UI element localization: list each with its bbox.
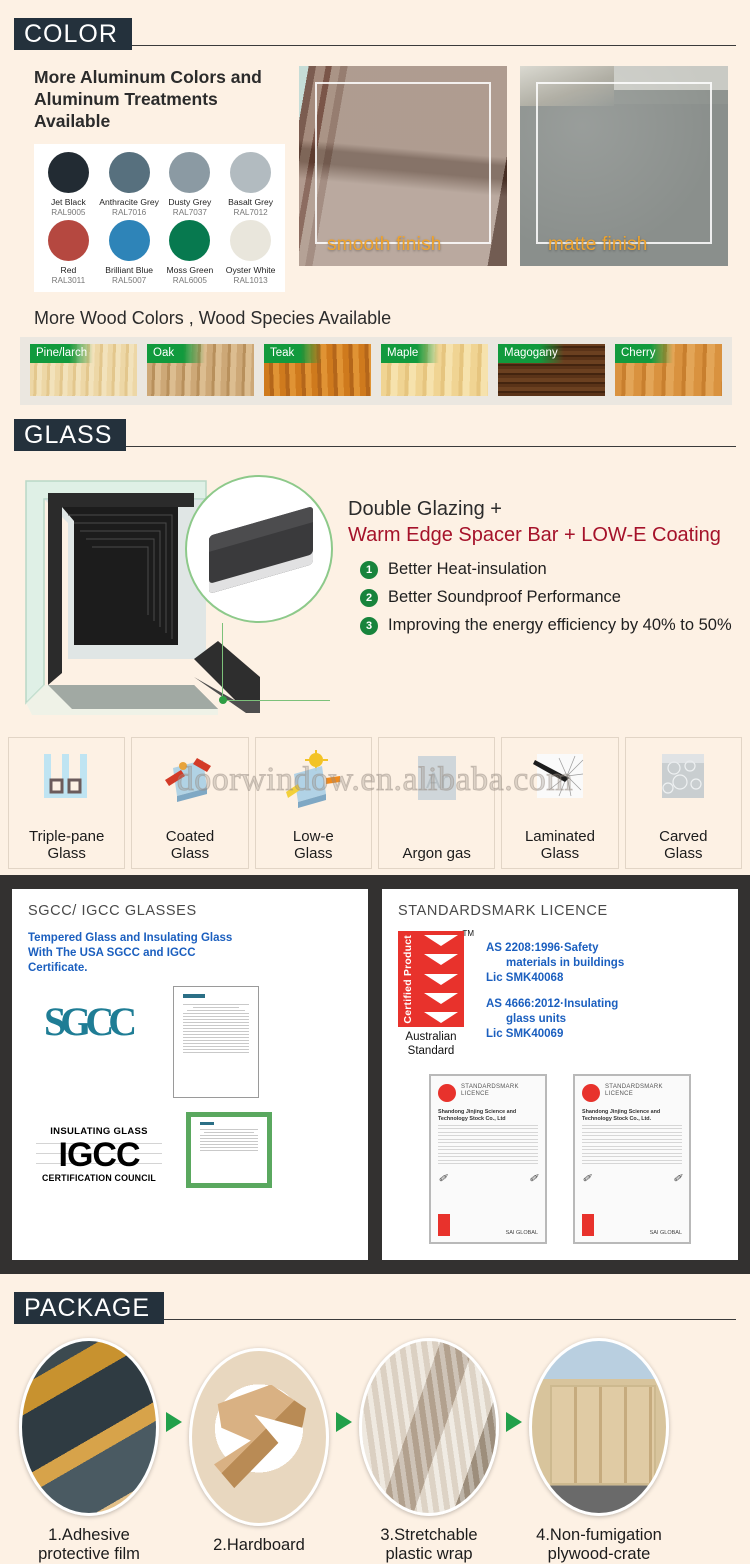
swatch-name: Anthracite Grey <box>99 197 160 207</box>
australian-standard-caption: Australian Standard <box>398 1030 464 1058</box>
smooth-finish-caption: smooth finish <box>327 234 442 256</box>
glass-type-label: Carved Glass <box>659 828 707 862</box>
color-swatch: Anthracite Grey RAL7016 <box>99 152 160 218</box>
section-title-glass: GLASS <box>14 419 126 451</box>
wood-label: Teak <box>264 344 322 363</box>
package-step-caption: 3.Stretchable plastic wrap <box>354 1526 504 1564</box>
glass-type-card-carved[interactable]: Carved Glass <box>625 737 742 869</box>
sgcc-heading: SGCC/ IGCC GLASSES <box>28 903 352 919</box>
wood-label: Magogany <box>498 344 564 363</box>
glass-type-card-low-e[interactable]: Low-e Glass <box>255 737 372 869</box>
swatch-dot <box>48 220 89 261</box>
glass-type-label: Laminated Glass <box>525 828 595 862</box>
glass-section: GLASS <box>0 405 750 869</box>
certificate-footer: SAI GLOBAL <box>506 1230 538 1236</box>
package-step-caption: 4.Non-fumigation plywood-crate <box>524 1526 674 1564</box>
swatch-dot <box>169 220 210 261</box>
standardsmark-certificate-thumbnail: STANDARDSMARK LICENCE Shandong Jinjing S… <box>573 1074 691 1244</box>
certificate-footer: SAI GLOBAL <box>650 1230 682 1236</box>
package-step-3: 3.Stretchable plastic wrap <box>354 1338 504 1564</box>
certificates-row: SGCC/ IGCC GLASSES Tempered Glass and In… <box>12 889 738 1260</box>
standard-entry-line3: Lic SMK40068 <box>486 971 624 986</box>
package-step-1: 1.Adhesive protective film <box>14 1338 164 1564</box>
color-section: COLOR More Aluminum Colors and Aluminum … <box>0 0 750 405</box>
package-section-header: PACKAGE <box>14 1292 736 1326</box>
wood-label: Maple <box>381 344 439 363</box>
svg-text:Ar: Ar <box>426 768 448 793</box>
standard-entry-line1: AS 4666:2012·Insulating <box>486 997 624 1012</box>
color-swatch: Brilliant Blue RAL5007 <box>99 220 160 286</box>
sgcc-certificate-thumbnail <box>173 986 259 1098</box>
certified-product-text: Certified Product <box>402 935 414 1024</box>
swatch-dot <box>230 152 271 193</box>
laminated-glass-icon <box>529 750 591 810</box>
sai-globe-icon <box>582 1084 600 1102</box>
standard-entry-line2: materials in buildings <box>506 956 624 971</box>
package-section: PACKAGE 1.Adhesive protective film 2.Har… <box>0 1274 750 1564</box>
swatch-dot <box>109 220 150 261</box>
photo-frame <box>536 82 712 244</box>
aluminum-swatch-grid: Jet Black RAL9005 Anthracite Grey RAL701… <box>34 144 285 292</box>
certificate-body-lines <box>438 1125 538 1165</box>
swatch-name: Oyster White <box>220 265 281 275</box>
swatch-dot <box>169 152 210 193</box>
aluminum-colors-block: More Aluminum Colors and Aluminum Treatm… <box>34 66 285 292</box>
wood-label: Pine/larch <box>30 344 93 363</box>
swatch-name: Basalt Grey <box>220 197 281 207</box>
glass-type-cards: Triple-pane Glass Coated Glass <box>8 737 742 869</box>
arrow-right-icon <box>166 1412 182 1432</box>
color-swatch: Oyster White RAL1013 <box>220 220 281 286</box>
color-swatch: Moss Green RAL6005 <box>160 220 221 286</box>
callout-anchor-dot <box>219 696 227 704</box>
signature: ✐ <box>438 1172 447 1185</box>
low-e-glass-icon <box>282 750 344 810</box>
callout-leader-line <box>222 623 330 701</box>
spacer-bar-callout <box>185 475 333 623</box>
package-step-photo <box>19 1338 159 1516</box>
certificate-company: Shandong Jinjing Science and Technology … <box>438 1109 538 1122</box>
australian-standard-mark: Certified Product TM Australian Standard <box>398 931 464 1058</box>
benefit-text: Better Soundproof Performance <box>388 588 621 607</box>
wood-swatch: Pine/larch <box>30 344 137 396</box>
swatch-ral: RAL3011 <box>38 275 99 286</box>
benefit-item: 2 Better Soundproof Performance <box>360 588 744 607</box>
sgcc-igcc-card: SGCC/ IGCC GLASSES Tempered Glass and In… <box>12 889 368 1260</box>
glass-type-card-argon-gas[interactable]: Ar Argon gas <box>378 737 495 869</box>
wood-label: Cherry <box>615 344 673 363</box>
swatch-name: Red <box>38 265 99 275</box>
section-title-package: PACKAGE <box>14 1292 164 1324</box>
glass-type-label: Triple-pane Glass <box>29 828 104 862</box>
swatch-name: Brilliant Blue <box>99 265 160 275</box>
wood-label: Oak <box>147 344 205 363</box>
standard-entry-line1: AS 2208:1996·Safety <box>486 941 624 956</box>
swatch-ral: RAL6005 <box>160 275 221 286</box>
standardsmark-heading: STANDARDSMARK LICENCE <box>398 903 722 919</box>
sgcc-blurb: Tempered Glass and Insulating Glass With… <box>28 931 243 976</box>
standard-entry-line2: glass units <box>506 1012 624 1027</box>
swatch-ral: RAL7012 <box>220 207 281 218</box>
standard-entry-line3: Lic SMK40069 <box>486 1027 624 1042</box>
package-step-photo <box>529 1338 669 1516</box>
double-glazing-heading-line2: Warm Edge Spacer Bar + LOW-E Coating <box>348 522 744 548</box>
arrow-right-icon <box>336 1412 352 1432</box>
glass-type-card-triple-pane[interactable]: Triple-pane Glass <box>8 737 125 869</box>
color-section-header: COLOR <box>14 18 736 52</box>
smooth-finish-photo: smooth finish <box>299 66 507 266</box>
package-step-photo <box>189 1348 329 1526</box>
matte-finish-photo: matte finish <box>520 66 728 266</box>
certificate-company: Shandong Jinjing Science and Technology … <box>582 1109 682 1122</box>
glass-type-label: Low-e Glass <box>293 828 334 862</box>
coated-glass-icon <box>159 750 221 810</box>
wood-swatch-band: Pine/larch Oak Teak Maple Magogany Cherr… <box>20 337 732 405</box>
swatch-name: Moss Green <box>160 265 221 275</box>
certificate-body-lines <box>582 1125 682 1165</box>
igcc-logo: INSULATING GLASS IGCC CERTIFICATION COUN… <box>36 1126 162 1183</box>
swatch-dot <box>230 220 271 261</box>
color-body: More Aluminum Colors and Aluminum Treatm… <box>34 66 728 292</box>
swatch-ral: RAL9005 <box>38 207 99 218</box>
wood-swatch: Maple <box>381 344 488 396</box>
glass-text-block: Double Glazing + Warm Edge Spacer Bar + … <box>348 497 744 644</box>
benefit-number: 2 <box>360 589 378 607</box>
finish-photos: smooth finish matte finish <box>299 66 728 292</box>
glass-body: Double Glazing + Warm Edge Spacer Bar + … <box>0 453 750 733</box>
color-swatch: Dusty Grey RAL7037 <box>160 152 221 218</box>
standardsmark-card: STANDARDSMARK LICENCE Certified Product … <box>382 889 738 1260</box>
arrow-right-icon <box>506 1412 522 1432</box>
signature: ✐ <box>673 1172 682 1185</box>
benefit-item: 3 Improving the energy efficiency by 40%… <box>360 616 744 635</box>
igcc-certificate-thumbnail <box>186 1112 272 1188</box>
glass-benefits-list: 1 Better Heat-insulation 2 Better Soundp… <box>360 560 744 635</box>
benefit-number: 1 <box>360 561 378 579</box>
standard-entry-1: AS 2208:1996·Safety materials in buildin… <box>486 941 624 986</box>
benefit-text: Better Heat-insulation <box>388 560 547 579</box>
wood-swatch: Cherry <box>615 344 722 396</box>
color-swatch: Jet Black RAL9005 <box>38 152 99 218</box>
glass-type-card-coated[interactable]: Coated Glass <box>131 737 248 869</box>
glass-type-label: Coated Glass <box>166 828 214 862</box>
certified-product-mini-badge <box>582 1214 594 1236</box>
warm-edge-spacer-bar <box>209 506 313 594</box>
swatch-dot <box>48 152 89 193</box>
argon-gas-icon: Ar <box>406 750 468 810</box>
standardsmark-certificate-thumbnail: STANDARDSMARK LICENCE Shandong Jinjing S… <box>429 1074 547 1244</box>
certificate-title: STANDARDSMARK LICENCE <box>605 1084 682 1098</box>
section-title-color: COLOR <box>14 18 132 50</box>
certificates-band: SGCC/ IGCC GLASSES Tempered Glass and In… <box>0 875 750 1274</box>
package-step-caption: 2.Hardboard <box>184 1536 334 1555</box>
chevrons-icon <box>424 935 460 1023</box>
wood-swatch: Magogany <box>498 344 605 396</box>
triple-pane-glass-icon <box>36 750 98 810</box>
benefit-number: 3 <box>360 617 378 635</box>
color-swatch: Basalt Grey RAL7012 <box>220 152 281 218</box>
sgcc-logo: SGCC <box>44 998 131 1045</box>
swatch-dot <box>109 152 150 193</box>
signature: ✐ <box>529 1172 538 1185</box>
swatch-name: Jet Black <box>38 197 99 207</box>
certified-product-mini-badge <box>438 1214 450 1236</box>
standard-entry-2: AS 4666:2012·Insulating glass units Lic … <box>486 997 624 1042</box>
package-step-2: 2.Hardboard <box>184 1348 334 1555</box>
swatch-name: Dusty Grey <box>160 197 221 207</box>
certificate-title: STANDARDSMARK LICENCE <box>461 1084 538 1098</box>
swatch-ral: RAL7016 <box>99 207 160 218</box>
aluminum-title: More Aluminum Colors and Aluminum Treatm… <box>34 66 285 132</box>
carved-glass-icon <box>652 750 714 810</box>
wood-swatch: Teak <box>264 344 371 396</box>
benefit-item: 1 Better Heat-insulation <box>360 560 744 579</box>
swatch-ral: RAL1013 <box>220 275 281 286</box>
wood-colors-title: More Wood Colors , Wood Species Availabl… <box>34 308 750 329</box>
glass-section-header: GLASS <box>14 419 736 453</box>
igcc-bottom-text: CERTIFICATION COUNCIL <box>36 1173 162 1183</box>
trademark-symbol: TM <box>462 929 474 938</box>
swatch-ral: RAL5007 <box>99 275 160 286</box>
benefit-text: Improving the energy efficiency by 40% t… <box>388 616 732 635</box>
package-step-4: 4.Non-fumigation plywood-crate <box>524 1338 674 1564</box>
sai-globe-icon <box>438 1084 456 1102</box>
wood-swatch: Oak <box>147 344 254 396</box>
package-step-caption: 1.Adhesive protective film <box>14 1526 164 1564</box>
igcc-main-text: IGCC <box>36 1137 162 1173</box>
color-swatch: Red RAL3011 <box>38 220 99 286</box>
photo-frame <box>315 82 491 244</box>
package-step-photo <box>359 1338 499 1516</box>
package-steps-row: 1.Adhesive protective film 2.Hardboard 3… <box>14 1338 736 1564</box>
signature: ✐ <box>582 1172 591 1185</box>
certified-product-badge: Certified Product TM <box>398 931 464 1027</box>
glass-type-label: Argon gas <box>402 845 470 862</box>
double-glazing-heading-line1: Double Glazing + <box>348 497 744 522</box>
glass-type-card-laminated[interactable]: Laminated Glass <box>501 737 618 869</box>
swatch-ral: RAL7037 <box>160 207 221 218</box>
matte-finish-caption: matte finish <box>548 234 648 256</box>
